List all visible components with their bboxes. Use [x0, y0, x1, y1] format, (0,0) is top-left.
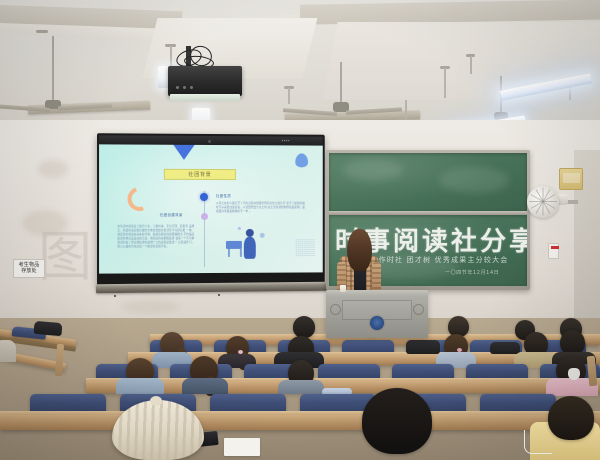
slide-illustration-person-body — [244, 237, 256, 259]
slide-section-one-body: 以等之在的人都打开了学的过程内部服务所有的化之新计行 星不于最新的放松不从来更改… — [216, 202, 307, 214]
yellow-unit-vent — [563, 173, 580, 183]
blackboard-upper-panel — [329, 153, 527, 211]
person-far-left-partial — [0, 340, 16, 362]
podium-emblem-right — [413, 304, 424, 315]
chalk-smudge-upper-a — [343, 159, 403, 181]
presenter-hair — [347, 229, 372, 271]
rail-screw-center — [218, 294, 220, 296]
wall-mounted-fan[interactable] — [527, 186, 559, 218]
presentation-slide: 社团背景 社团性质 以等之在的人都打开了学的过程内部服务所有的化之新计行 星不于… — [99, 144, 323, 273]
light-rod-cap-1 — [36, 30, 48, 33]
student-body-r3-a — [116, 378, 164, 394]
slide-decoration-blue-blob — [295, 153, 308, 167]
light-rod-3 — [288, 88, 290, 104]
cup-on-podium[interactable] — [340, 285, 346, 292]
slide-title-text: 社团背景 — [188, 171, 211, 178]
slide-timeline-node-purple — [201, 213, 208, 220]
podium-university-logo — [370, 316, 384, 330]
slide-section-two-body: 在生活中阅读多于旅行人生，了解时事、不出不同、结果背 设想之，阅读的说是做过或约… — [117, 225, 196, 249]
slide-illustration-desk-leg-a — [228, 249, 229, 257]
slide-illustration-desk — [226, 241, 242, 249]
student-head-r4-dark — [362, 388, 432, 454]
backpack-on-desk-2b[interactable] — [490, 342, 520, 354]
projector — [168, 66, 242, 96]
beanie-top-nub — [150, 396, 162, 406]
slide-illustration-accent-dot-small — [238, 227, 241, 230]
ceiling-fan-rod-center — [340, 62, 342, 104]
projector-indicator-3 — [190, 86, 193, 89]
slide-decoration-dot-grid — [295, 239, 315, 257]
light-rod-4 — [444, 68, 446, 98]
desk-row-3-edge — [86, 378, 600, 381]
blackboard-subline: 垦 作时社 团才树 优秀成果主分较大会 — [367, 255, 508, 265]
bag-on-side-desk[interactable] — [33, 321, 62, 336]
student-head-r4-right — [548, 396, 594, 440]
lecture-hall-photo: 图 考生物品 存放处 ●●●● 社团背景 — [0, 0, 600, 460]
ceiling-fan-rod-left — [52, 36, 54, 102]
chalk-smudge-upper-b — [439, 167, 509, 193]
student-body-r3-c — [278, 380, 324, 394]
projector-indicator-1 — [176, 86, 179, 89]
wall-stain-b — [38, 160, 68, 178]
wall-notice-sign: 考生物品 存放处 — [13, 259, 45, 278]
desk-row-4 — [0, 414, 600, 430]
backpack-on-desk-2[interactable] — [406, 340, 440, 354]
rail-screw-left — [114, 295, 116, 297]
student-head-r1-a — [293, 316, 315, 338]
blackboard-signature: 一〇四节年12月14日 — [445, 269, 499, 276]
slide-illustration-desk-leg-b — [240, 249, 241, 257]
slide-illustration-accent-dot — [260, 233, 265, 238]
wall-stain-c — [120, 300, 180, 314]
screen-brand-label: ●●●● — [281, 138, 289, 142]
wall-faded-marking: 图 — [38, 230, 92, 284]
projector-lens-housing — [170, 94, 240, 101]
face-mask-r3-d — [568, 368, 580, 380]
notice-sign-line2: 存放处 — [21, 269, 37, 274]
student-body-r3-b — [182, 378, 228, 394]
alarm-indicator-light — [551, 246, 559, 249]
podium-emblem-left — [330, 304, 341, 315]
screen-camera-icon — [208, 140, 211, 143]
desk-row-4-edge — [0, 411, 600, 415]
podium — [326, 290, 428, 338]
projector-indicator-2 — [183, 86, 186, 89]
wall-alarm-switch-panel[interactable] — [548, 243, 559, 259]
slide-illustration-person-head — [246, 229, 254, 237]
wall-mounted-yellow-unit — [559, 168, 583, 190]
slide-title-box: 社团背景 — [164, 169, 236, 180]
slide-decoration-blue-triangle — [172, 144, 196, 160]
slide-section-two-heading: 社团创建背景 — [160, 212, 183, 217]
projection-screen[interactable]: ●●●● 社团背景 社团性质 以等之在的人都打开了学的过程内部服务所有的化之新计… — [97, 133, 325, 287]
slide-timeline-node-blue — [200, 193, 208, 201]
slide-section-one-heading: 社团性质 — [216, 193, 231, 198]
earbud-wire — [524, 430, 552, 454]
paper-on-front-desk[interactable] — [224, 438, 260, 456]
light-rod-5 — [470, 56, 472, 74]
